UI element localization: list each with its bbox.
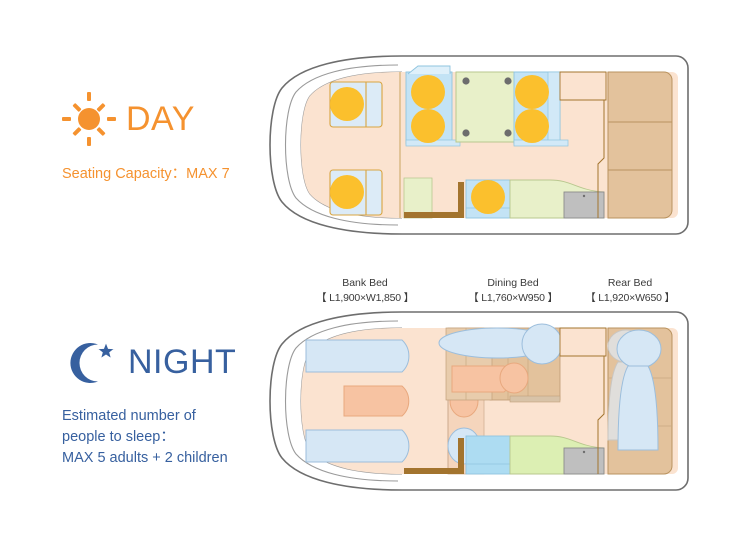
moon-star-icon xyxy=(62,336,118,388)
rear-bed-base xyxy=(608,72,672,218)
cab-seat-passenger xyxy=(330,170,382,215)
rear-cabinet xyxy=(560,328,606,356)
child-body xyxy=(344,386,409,416)
faucet-dot xyxy=(583,195,585,197)
night-legend-row: NIGHT xyxy=(62,336,282,388)
table-mount-dot xyxy=(462,129,469,136)
cab-seat-driver xyxy=(330,82,382,127)
adult-head xyxy=(617,330,661,368)
occupant-marker xyxy=(411,75,445,109)
cabinet-post xyxy=(458,182,464,218)
dinette-group xyxy=(406,66,568,146)
bed-caption-bank: Bank Bed 【 L1,900×W1,850 】 xyxy=(285,276,445,305)
sun-ray xyxy=(87,137,91,146)
dining-bed-edge xyxy=(510,396,560,402)
bed-dimensions: 【 L1,900×W1,850 】 xyxy=(285,291,445,306)
day-title: DAY xyxy=(126,102,195,136)
table-mount-dot xyxy=(504,77,511,84)
sun-ray xyxy=(62,117,71,121)
night-capacity-line-3: MAX 5 adults + 2 children xyxy=(62,448,282,469)
door-sill xyxy=(404,468,460,474)
rear-cabinet xyxy=(560,72,606,100)
table-mount-dot xyxy=(504,129,511,136)
sleeper-adult xyxy=(617,330,661,450)
sun-core xyxy=(78,108,100,130)
bed-name: Bank Bed xyxy=(285,276,445,291)
sleeper-child xyxy=(452,363,528,393)
occupant-marker xyxy=(515,75,549,109)
adult-body xyxy=(306,430,409,462)
sun-ray xyxy=(107,117,116,121)
bed-caption-rear: Rear Bed 【 L1,920×W650 】 xyxy=(550,276,710,305)
sun-ray xyxy=(72,126,81,135)
moon-star-svg xyxy=(62,336,118,388)
bed-dimensions: 【 L1,920×W650 】 xyxy=(550,291,710,306)
converted-seat xyxy=(466,436,510,474)
door-sill xyxy=(404,212,460,218)
bed-caption-group: Bank Bed 【 L1,900×W1,850 】 Dining Bed 【 … xyxy=(255,276,695,308)
table-mount-dot xyxy=(462,77,469,84)
adult-body xyxy=(618,366,658,450)
night-capacity-text: Estimated number of people to sleep： MAX… xyxy=(62,406,282,469)
adult-body xyxy=(306,340,409,372)
sun-ray xyxy=(87,92,91,101)
floorplan-infographic: DAY Seating Capacity：MAX 7 NIGHT Estimat… xyxy=(0,0,750,542)
dining-bed-area xyxy=(439,324,562,402)
day-capacity-text: Seating Capacity：MAX 7 xyxy=(62,164,262,185)
adult-head xyxy=(522,324,562,364)
day-floorplan xyxy=(252,52,700,238)
cabinet-post xyxy=(458,438,464,474)
night-legend: NIGHT Estimated number of people to slee… xyxy=(62,336,282,469)
sleeper-adult xyxy=(306,428,480,464)
sun-icon xyxy=(62,92,116,146)
bench-edge xyxy=(514,140,568,146)
bed-name: Rear Bed xyxy=(550,276,710,291)
sun-ray xyxy=(96,126,105,135)
occupant-marker xyxy=(471,180,505,214)
occupant-marker xyxy=(330,175,364,209)
night-floorplan xyxy=(252,308,700,494)
day-legend: DAY Seating Capacity：MAX 7 xyxy=(62,92,262,185)
night-capacity-line-1: Estimated number of xyxy=(62,406,282,427)
occupant-marker xyxy=(330,87,364,121)
child-head xyxy=(500,363,528,393)
sun-ray xyxy=(72,102,81,111)
rear-bed-area xyxy=(608,328,672,474)
faucet-dot xyxy=(583,451,585,453)
night-capacity-line-2: people to sleep： xyxy=(62,427,282,448)
night-title: NIGHT xyxy=(128,345,236,379)
day-legend-row: DAY xyxy=(62,92,262,146)
sun-ray xyxy=(96,102,105,111)
occupant-marker xyxy=(515,109,549,143)
bench-backrest xyxy=(548,72,560,144)
occupant-marker xyxy=(411,109,445,143)
